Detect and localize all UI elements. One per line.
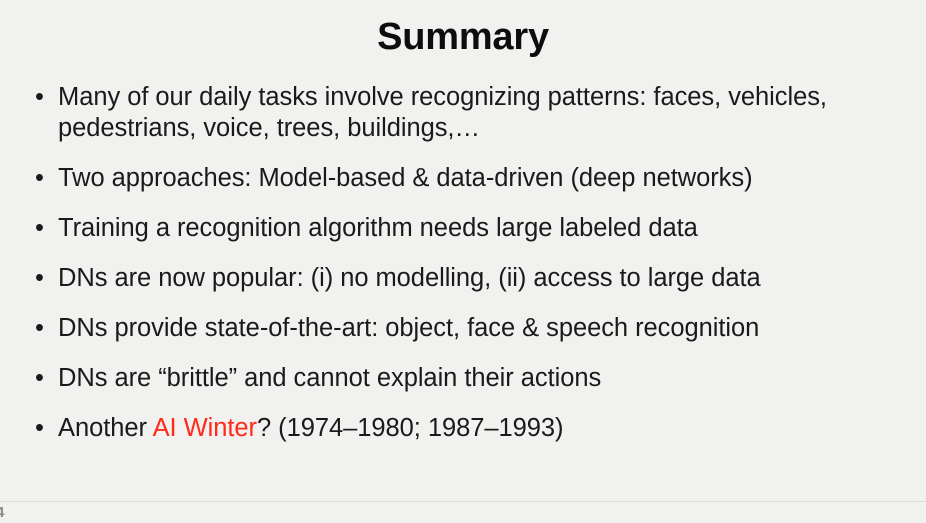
list-item-dns-sota: • DNs provide state-of-the-art: object, …: [28, 313, 908, 344]
bullet-dot-icon: •: [35, 363, 44, 394]
bullet-dot-icon: •: [35, 263, 44, 294]
list-item-text: Many of our daily tasks involve recogniz…: [58, 82, 908, 144]
list-item-dns-brittle: • DNs are “brittle” and cannot explain t…: [28, 363, 908, 394]
list-item-dns-popular: • DNs are now popular: (i) no modelling,…: [28, 263, 908, 294]
list-item-text-prefix: Another: [58, 414, 153, 442]
list-item-ai-winter: • Another AI Winter? (1974–1980; 1987–19…: [28, 413, 908, 444]
list-item-daily-tasks: • Many of our daily tasks involve recogn…: [28, 82, 908, 144]
bullet-list: • Many of our daily tasks involve recogn…: [28, 82, 908, 444]
list-item-text: Another AI Winter? (1974–1980; 1987–1993…: [58, 413, 908, 444]
list-item-text: DNs are now popular: (i) no modelling, (…: [58, 263, 908, 294]
slide-number: 4: [0, 504, 12, 522]
list-item-training-data: • Training a recognition algorithm needs…: [28, 213, 908, 244]
list-item-text: DNs provide state-of-the-art: object, fa…: [58, 313, 908, 344]
slide-canvas: Summary • Many of our daily tasks involv…: [0, 0, 926, 523]
bullet-dot-icon: •: [35, 313, 44, 344]
bullet-dot-icon: •: [35, 82, 44, 113]
bullet-dot-icon: •: [35, 413, 44, 444]
list-item-text: Training a recognition algorithm needs l…: [58, 213, 908, 244]
bullet-dot-icon: •: [35, 213, 44, 244]
list-item-text: DNs are “brittle” and cannot explain the…: [58, 363, 908, 394]
highlighted-term-ai-winter: AI Winter: [153, 414, 257, 442]
list-item-text: Two approaches: Model-based & data-drive…: [58, 163, 908, 194]
footer-divider: [0, 501, 926, 502]
list-item-text-suffix: ? (1974–1980; 1987–1993): [257, 414, 564, 442]
page-title: Summary: [0, 14, 926, 60]
list-item-two-approaches: • Two approaches: Model-based & data-dri…: [28, 163, 908, 194]
bullet-dot-icon: •: [35, 163, 44, 194]
